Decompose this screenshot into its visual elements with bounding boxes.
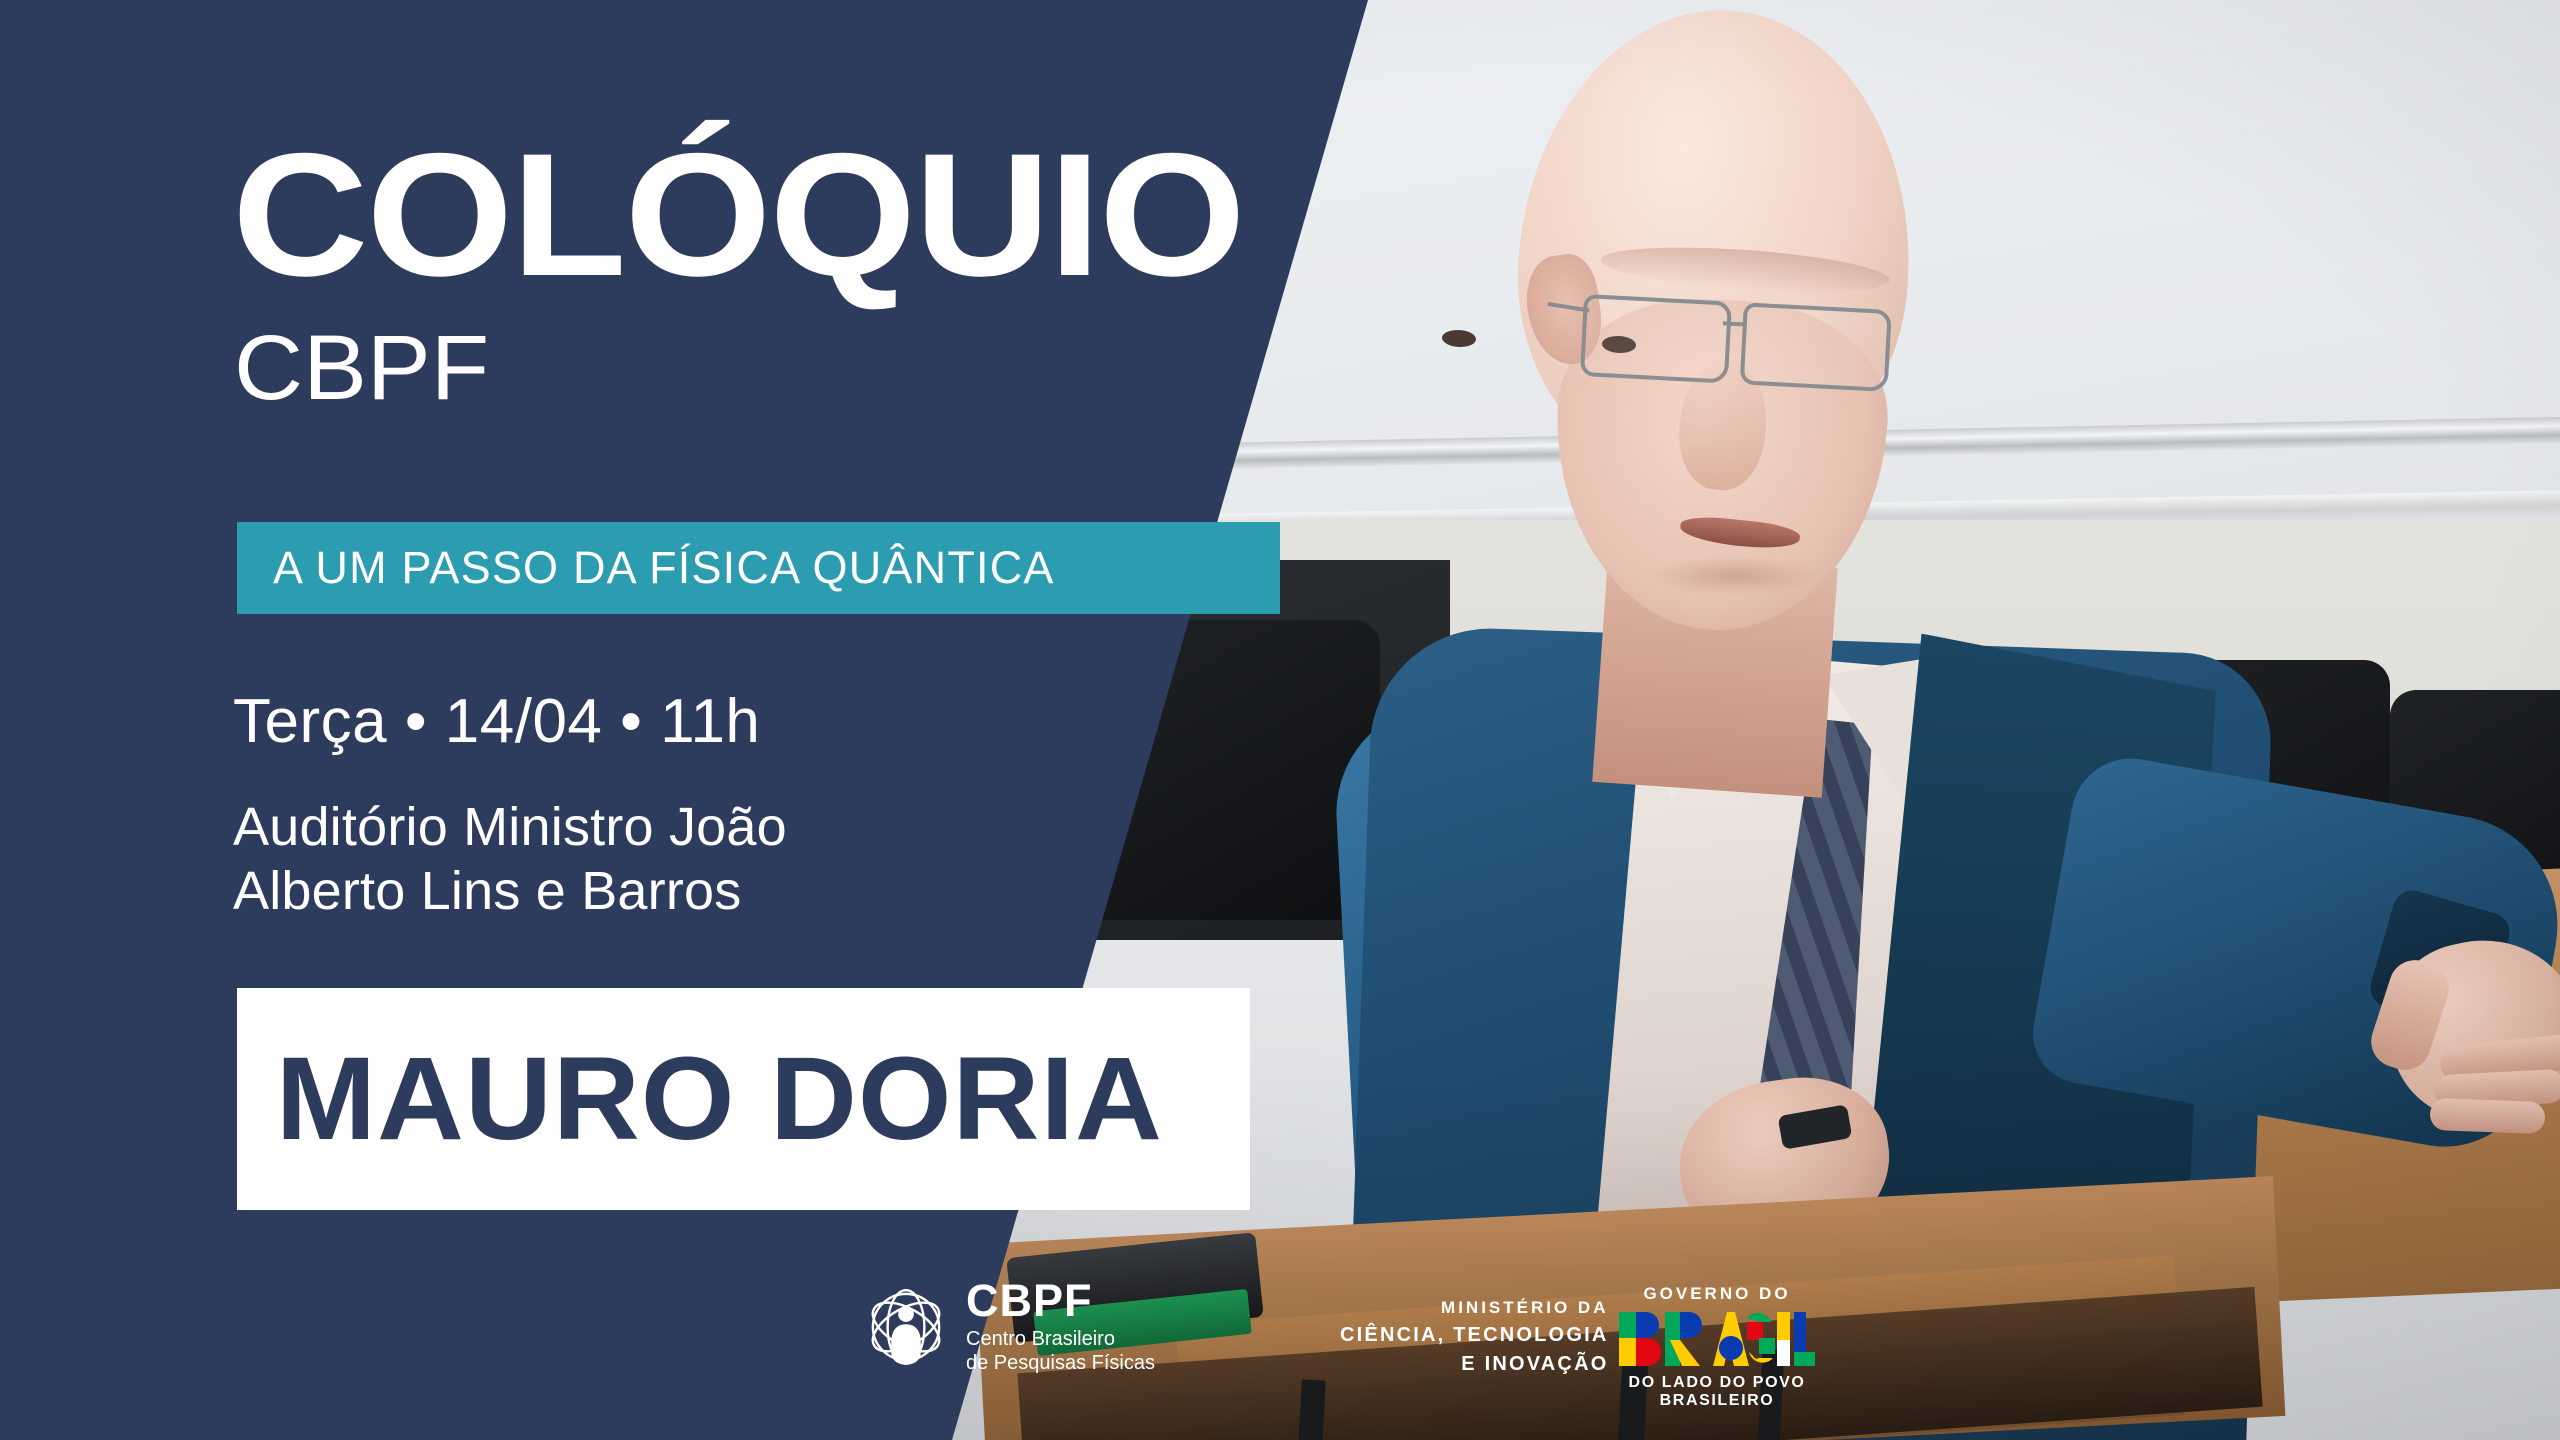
talk-title: A UM PASSO DA FÍSICA QUÂNTICA [237,542,1055,594]
poster-content: COLÓQUIO CBPF A UM PASSO DA FÍSICA QUÂNT… [0,0,1400,1440]
chin [1650,556,1820,596]
cbpf-acronym: CBPF [966,1278,1155,1323]
talk-title-banner: A UM PASSO DA FÍSICA QUÂNTICA [237,522,1280,614]
speaker-name: MAURO DORIA [237,1031,1163,1167]
cbpf-name: Centro Brasileiro de Pesquisas Físicas [966,1327,1155,1375]
cbpf-logo-text: CBPF Centro Brasileiro de Pesquisas Físi… [966,1278,1155,1375]
government-bottom-label: DO LADO DO POVO BRASILEIRO [1602,1374,1832,1410]
cbpf-logo: CBPF Centro Brasileiro de Pesquisas Físi… [860,1278,1155,1375]
event-poster: COLÓQUIO CBPF A UM PASSO DA FÍSICA QUÂNT… [0,0,2560,1440]
finger [2429,1098,2545,1134]
ministry-line-1: MINISTÉRIO DA [1340,1296,1608,1321]
eye-left [1442,329,1477,348]
event-venue: Auditório Ministro João Alberto Lins e B… [233,796,787,923]
government-logo: GOVERNO DO [1602,1284,1832,1410]
title-subtitle: CBPF [234,322,489,414]
government-top-label: GOVERNO DO [1602,1284,1832,1304]
ministry-line-3: E INOVAÇÃO [1340,1350,1608,1379]
ministry-line-2: CIÊNCIA, TECNOLOGIA [1340,1321,1608,1350]
event-datetime: Terça • 14/04 • 11h [233,686,760,757]
ministry-logo: MINISTÉRIO DA CIÊNCIA, TECNOLOGIA E INOV… [1340,1296,1608,1379]
lens-right [1740,302,1892,392]
page-title: COLÓQUIO [232,128,1244,303]
speaker-name-box: MAURO DORIA [237,988,1250,1210]
logo-row: CBPF Centro Brasileiro de Pesquisas Físi… [860,1278,1860,1398]
brasil-wordmark-icon [1617,1308,1817,1370]
atom-person-icon [860,1281,952,1373]
